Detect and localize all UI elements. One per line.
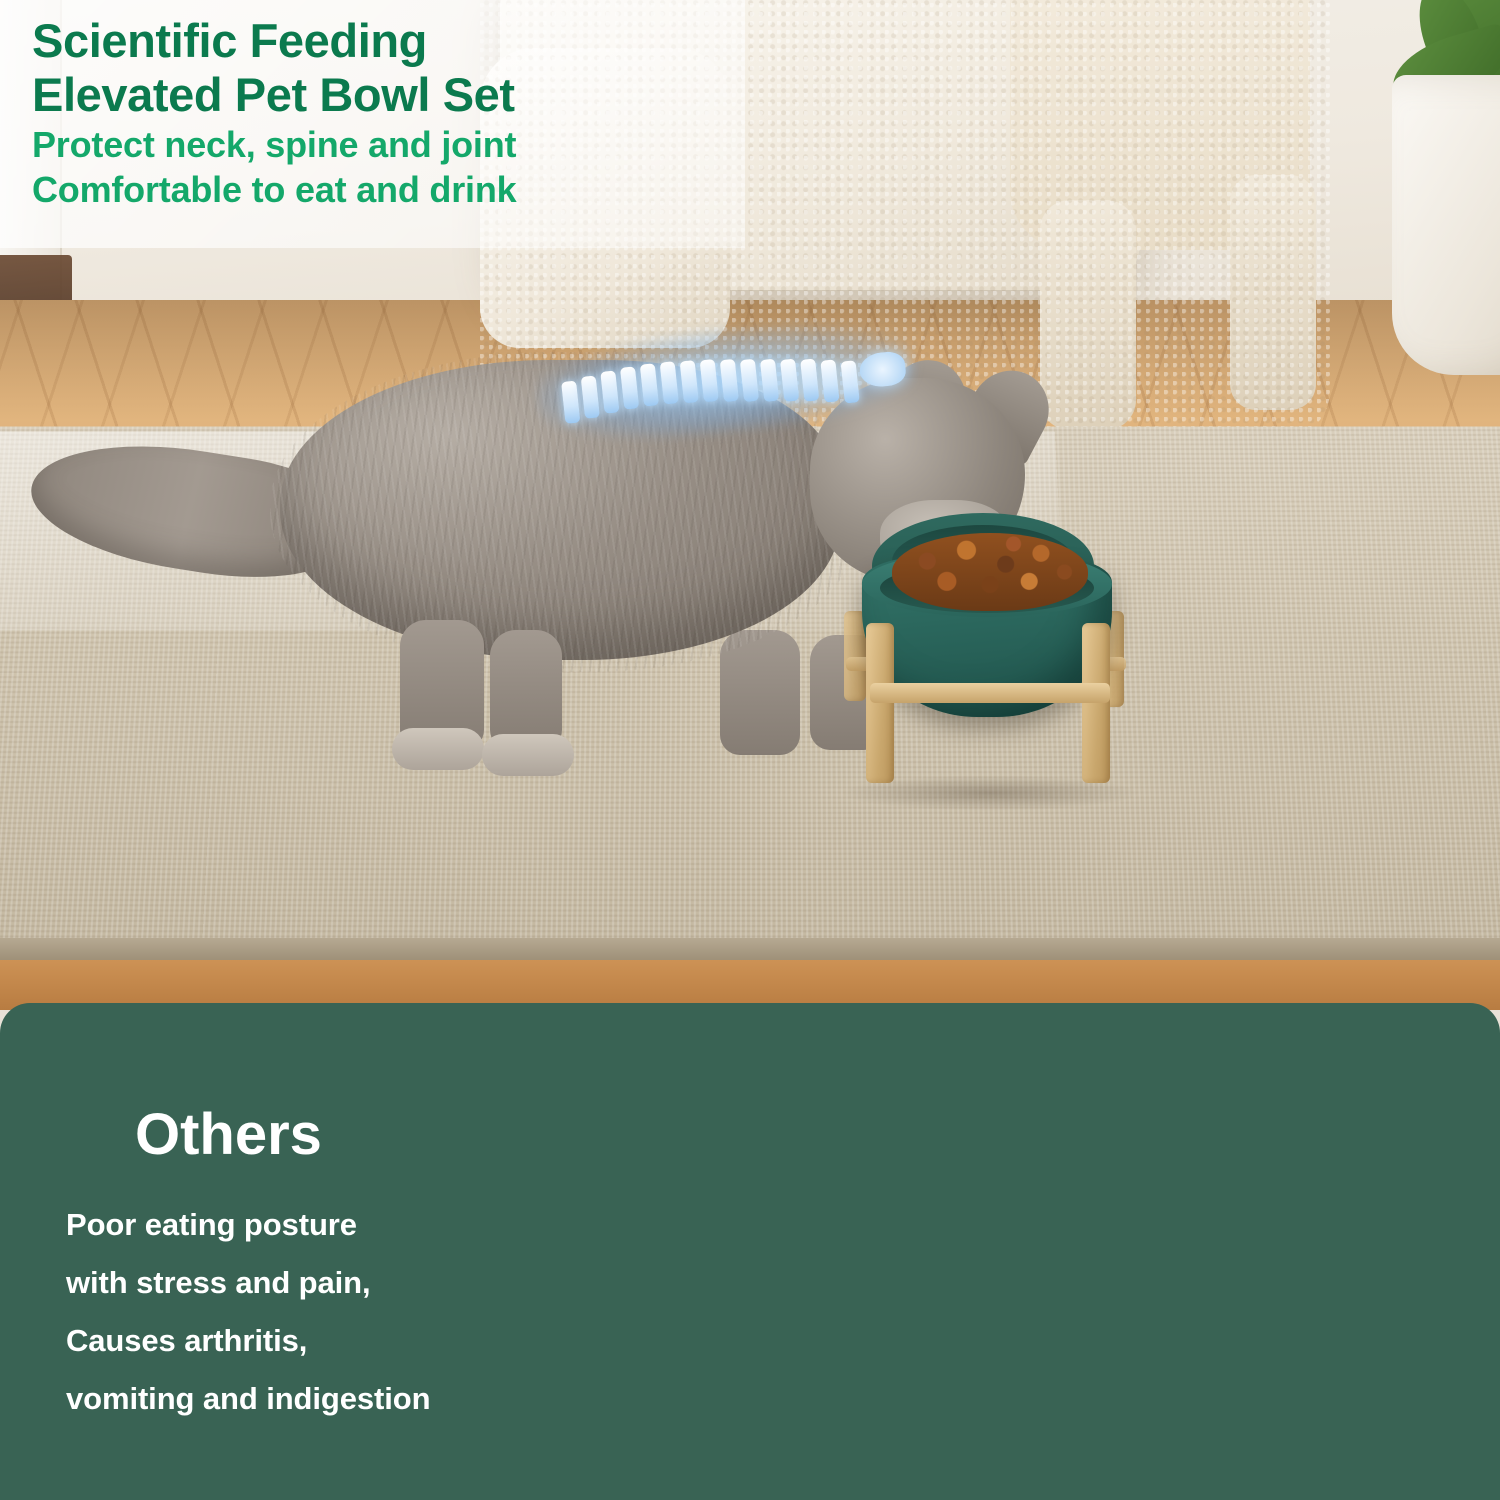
stand-leg <box>1082 623 1110 783</box>
panel-body-line: vomiting and indigestion <box>66 1370 466 1428</box>
headline-line-2: Elevated Pet Bowl Set <box>32 68 732 122</box>
panel-body-line: Causes arthritis, <box>66 1312 466 1370</box>
subheadline-line-1: Protect neck, spine and joint <box>32 122 732 167</box>
product-marketing-image: Scientific Feeding Elevated Pet Bowl Set… <box>0 0 1500 1500</box>
rug-edge <box>0 938 1500 962</box>
elevated-pet-bowl-product <box>840 505 1140 795</box>
cat-paw <box>482 734 574 776</box>
panel-body-line: with stress and pain, <box>66 1254 466 1312</box>
spine-overlay-healthy <box>557 328 893 436</box>
panel-body: Poor eating posture with stress and pain… <box>66 1196 466 1428</box>
cat-leg <box>490 630 562 750</box>
kibble-food <box>892 533 1088 611</box>
hero-photo: Scientific Feeding Elevated Pet Bowl Set… <box>0 0 1500 1010</box>
armchair-leg <box>1230 175 1316 410</box>
panel-title: Others <box>135 1103 322 1167</box>
stand-leg <box>866 623 894 783</box>
ceramic-planter <box>1392 75 1500 375</box>
subheadline-line-2: Comfortable to eat and drink <box>32 167 732 212</box>
headline-block: Scientific Feeding Elevated Pet Bowl Set… <box>32 14 732 212</box>
headline-line-1: Scientific Feeding <box>32 14 732 68</box>
armchair-leg <box>1040 200 1136 430</box>
stand-cross-rail <box>870 683 1110 703</box>
cat-paw <box>392 728 484 770</box>
panel-body-line: Poor eating posture <box>66 1196 466 1254</box>
